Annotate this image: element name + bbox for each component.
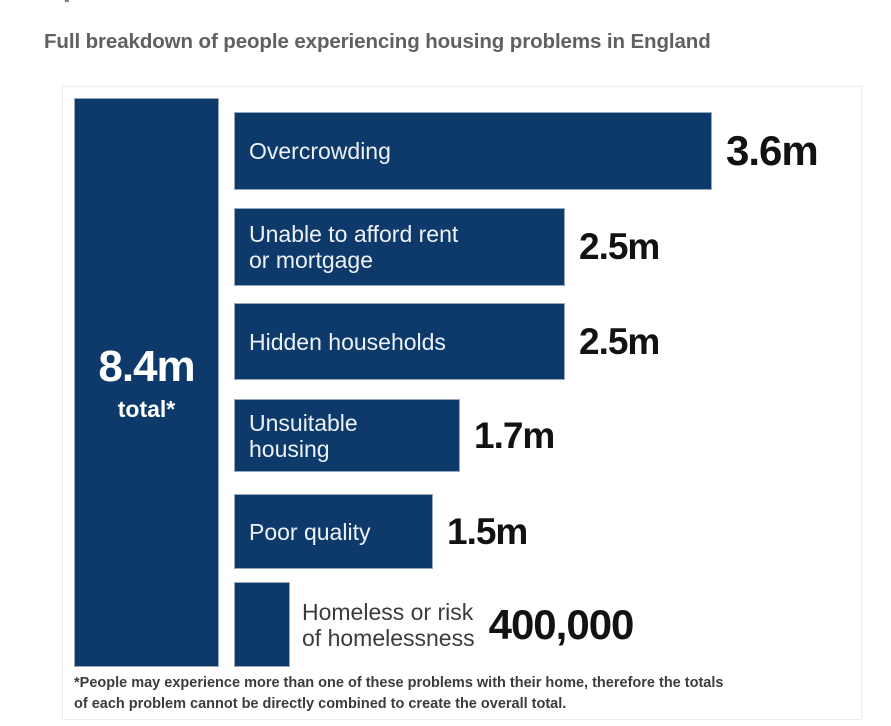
- bar-row: Hidden households 2.5m: [234, 303, 659, 380]
- chart-card: 8.4m total* Overcrowding 3.6m Unable to …: [62, 86, 862, 720]
- bar-hidden-households: Hidden households: [234, 303, 565, 380]
- bar-label: Unsuitable housing: [235, 410, 366, 462]
- bar-value: 1.5m: [433, 511, 527, 553]
- bar-label: Hidden households: [235, 329, 454, 355]
- bar-poor-quality: Poor quality: [234, 494, 433, 569]
- clipped-text-fragment: y: [62, 0, 71, 2]
- bar-row: Poor quality 1.5m: [234, 494, 527, 569]
- bar-value: 1.7m: [460, 415, 554, 457]
- bar-label: Poor quality: [235, 519, 378, 545]
- bar-row: Overcrowding 3.6m: [234, 112, 818, 190]
- bar-label: Overcrowding: [235, 138, 399, 164]
- bar-homeless-or-risk-of-homelessness: [234, 582, 290, 667]
- bar-value: 2.5m: [565, 226, 659, 268]
- bar-value: 3.6m: [712, 127, 818, 175]
- total-caption: total*: [118, 398, 176, 421]
- bar-value: 400,000: [475, 601, 634, 649]
- bar-unable-to-afford-rent-or-mortgage: Unable to afford rent or mortgage: [234, 208, 565, 286]
- bar-row: Unsuitable housing 1.7m: [234, 399, 554, 472]
- bar-label: Unable to afford rent or mortgage: [235, 221, 466, 273]
- page-title: Full breakdown of people experiencing ho…: [44, 30, 711, 54]
- footnote: *People may experience more than one of …: [74, 673, 849, 715]
- bar-unsuitable-housing: Unsuitable housing: [234, 399, 460, 472]
- bar-value: 2.5m: [565, 321, 659, 363]
- total-value: 8.4m: [98, 345, 194, 389]
- total-bar: 8.4m total*: [74, 98, 219, 667]
- bar-row: Unable to afford rent or mortgage 2.5m: [234, 208, 659, 286]
- bar-label: Homeless or risk of homelessness: [290, 599, 475, 651]
- bar-overcrowding: Overcrowding: [234, 112, 712, 190]
- bar-row: Homeless or risk of homelessness 400,000: [234, 582, 633, 667]
- bar-rows: Overcrowding 3.6m Unable to afford rent …: [234, 98, 861, 719]
